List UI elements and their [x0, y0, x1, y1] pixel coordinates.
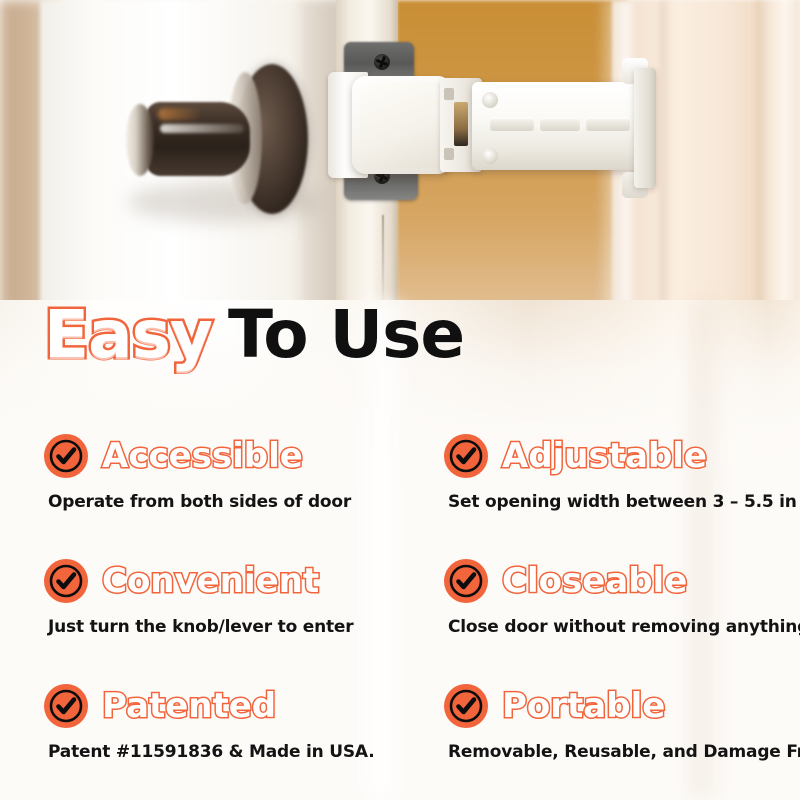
check-circle-icon	[44, 684, 88, 728]
check-circle-icon	[444, 434, 488, 478]
feature-subtitle: Just turn the knob/lever to enter	[48, 617, 390, 637]
feature-item-portable: Portable Removable, Reusable, and Damage…	[400, 680, 800, 800]
feature-item-convenient: Convenient Just turn the knob/lever to e…	[0, 555, 390, 680]
feature-title: Accessible	[102, 439, 303, 473]
feature-heading: Portable	[444, 680, 800, 732]
feature-subtitle: Patent #11591836 & Made in USA.	[48, 742, 390, 762]
feature-title: Portable	[502, 689, 665, 723]
check-circle-icon	[444, 559, 488, 603]
feature-heading: Patented	[44, 680, 390, 732]
headline-solid-words: To Use	[228, 296, 464, 373]
feature-title: Closeable	[502, 564, 687, 598]
check-circle-icon	[444, 684, 488, 728]
check-circle-icon	[44, 559, 88, 603]
feature-title: Patented	[102, 689, 276, 723]
feature-title: Adjustable	[502, 439, 707, 473]
feature-subtitle: Close door without removing anything	[448, 617, 800, 637]
feature-heading: Adjustable	[444, 430, 800, 482]
feature-item-accessible: Accessible Operate from both sides of do…	[0, 430, 390, 555]
headline-outlined-word: Easy	[44, 296, 212, 373]
infographic-canvas: EasyTo Use Accessible Operate from both …	[0, 0, 800, 800]
feature-subtitle: Set opening width between 3 – 5.5 in	[448, 492, 800, 512]
check-circle-icon	[44, 434, 88, 478]
feature-item-adjustable: Adjustable Set opening width between 3 –…	[400, 430, 800, 555]
feature-heading: Convenient	[44, 555, 390, 607]
content-layer: EasyTo Use Accessible Operate from both …	[0, 0, 800, 800]
feature-item-closeable: Closeable Close door without removing an…	[400, 555, 800, 680]
feature-heading: Accessible	[44, 430, 390, 482]
feature-heading: Closeable	[444, 555, 800, 607]
feature-subtitle: Operate from both sides of door	[48, 492, 390, 512]
feature-title: Convenient	[102, 564, 319, 598]
feature-grid: Accessible Operate from both sides of do…	[0, 430, 800, 800]
page-title: EasyTo Use	[44, 302, 464, 368]
feature-subtitle: Removable, Reusable, and Damage Free!	[448, 742, 800, 762]
feature-item-patented: Patented Patent #11591836 & Made in USA.	[0, 680, 390, 800]
